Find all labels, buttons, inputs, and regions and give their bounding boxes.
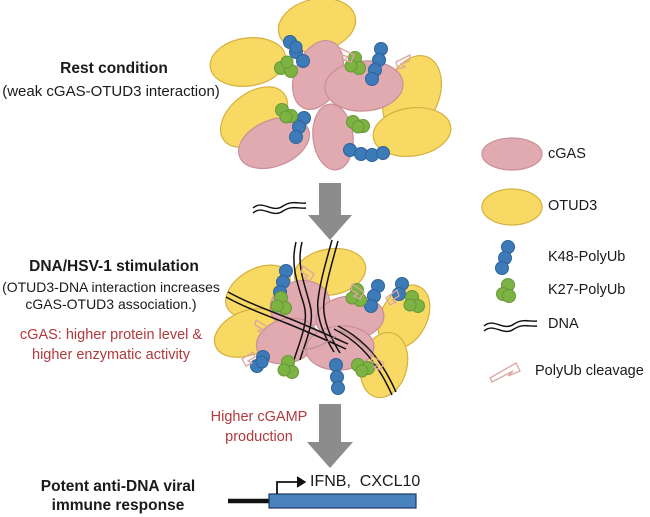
otud3-ellipse-icon [482, 189, 542, 225]
immune-response-line1: Potent anti-DNA viral [14, 478, 222, 497]
polyub-cleavage-icon [490, 363, 520, 382]
cgas-activity-note-line1: cGAS: higher protein level & [0, 327, 222, 345]
legend-label-polyub-cleavage: PolyUb cleavage [535, 363, 644, 379]
stimulated-cluster [207, 240, 440, 403]
k27-polyub-chain-icon [497, 279, 516, 303]
dna-strand-icon [484, 321, 537, 332]
stimulated-subheading-line1: (OTUD3-DNA interaction increases [0, 279, 222, 296]
cgamp-label-line1: Higher cGAMP [200, 409, 318, 427]
cgas-activity-note-line2: higher enzymatic activity [0, 347, 222, 365]
stimulated-heading: DNA/HSV-1 stimulation [6, 258, 222, 277]
transition-arrow-1-group [253, 183, 352, 240]
k48-polyub-chain-icon [496, 241, 515, 275]
gene-names-label: IFNB, CXCL10 [310, 472, 420, 492]
rest-cluster [207, 0, 454, 178]
stimulated-subheading-line2: cGAS-OTUD3 association.) [0, 296, 222, 313]
legend-label-cgas: cGAS [548, 146, 586, 162]
cgas-ellipse-icon [482, 138, 542, 170]
cgas-ellipse [310, 102, 357, 172]
k27-polyub-chain [345, 52, 366, 75]
legend-label-k27-polyub: K27-PolyUb [548, 282, 625, 298]
gene-bar [269, 494, 416, 508]
k48-polyub-chain [344, 144, 390, 162]
figure-root: Rest condition (weak cGAS-OTUD3 interact… [0, 0, 650, 517]
immune-response-line2: immune response [14, 497, 222, 516]
cgamp-label-line2: production [200, 429, 318, 447]
transcription-arrow-icon [277, 477, 305, 494]
legend-label-dna: DNA [548, 316, 579, 332]
rest-heading: Rest condition [6, 60, 222, 79]
down-arrow-icon [308, 183, 352, 240]
rest-subheading: (weak cGAS-OTUD3 interaction) [0, 83, 222, 101]
legend-icons [482, 138, 542, 382]
dna-strand-icon [253, 203, 306, 214]
legend-label-otud3: OTUD3 [548, 198, 597, 214]
k48-polyub-chain [330, 359, 345, 395]
legend-label-k48-polyub: K48-PolyUb [548, 249, 625, 265]
